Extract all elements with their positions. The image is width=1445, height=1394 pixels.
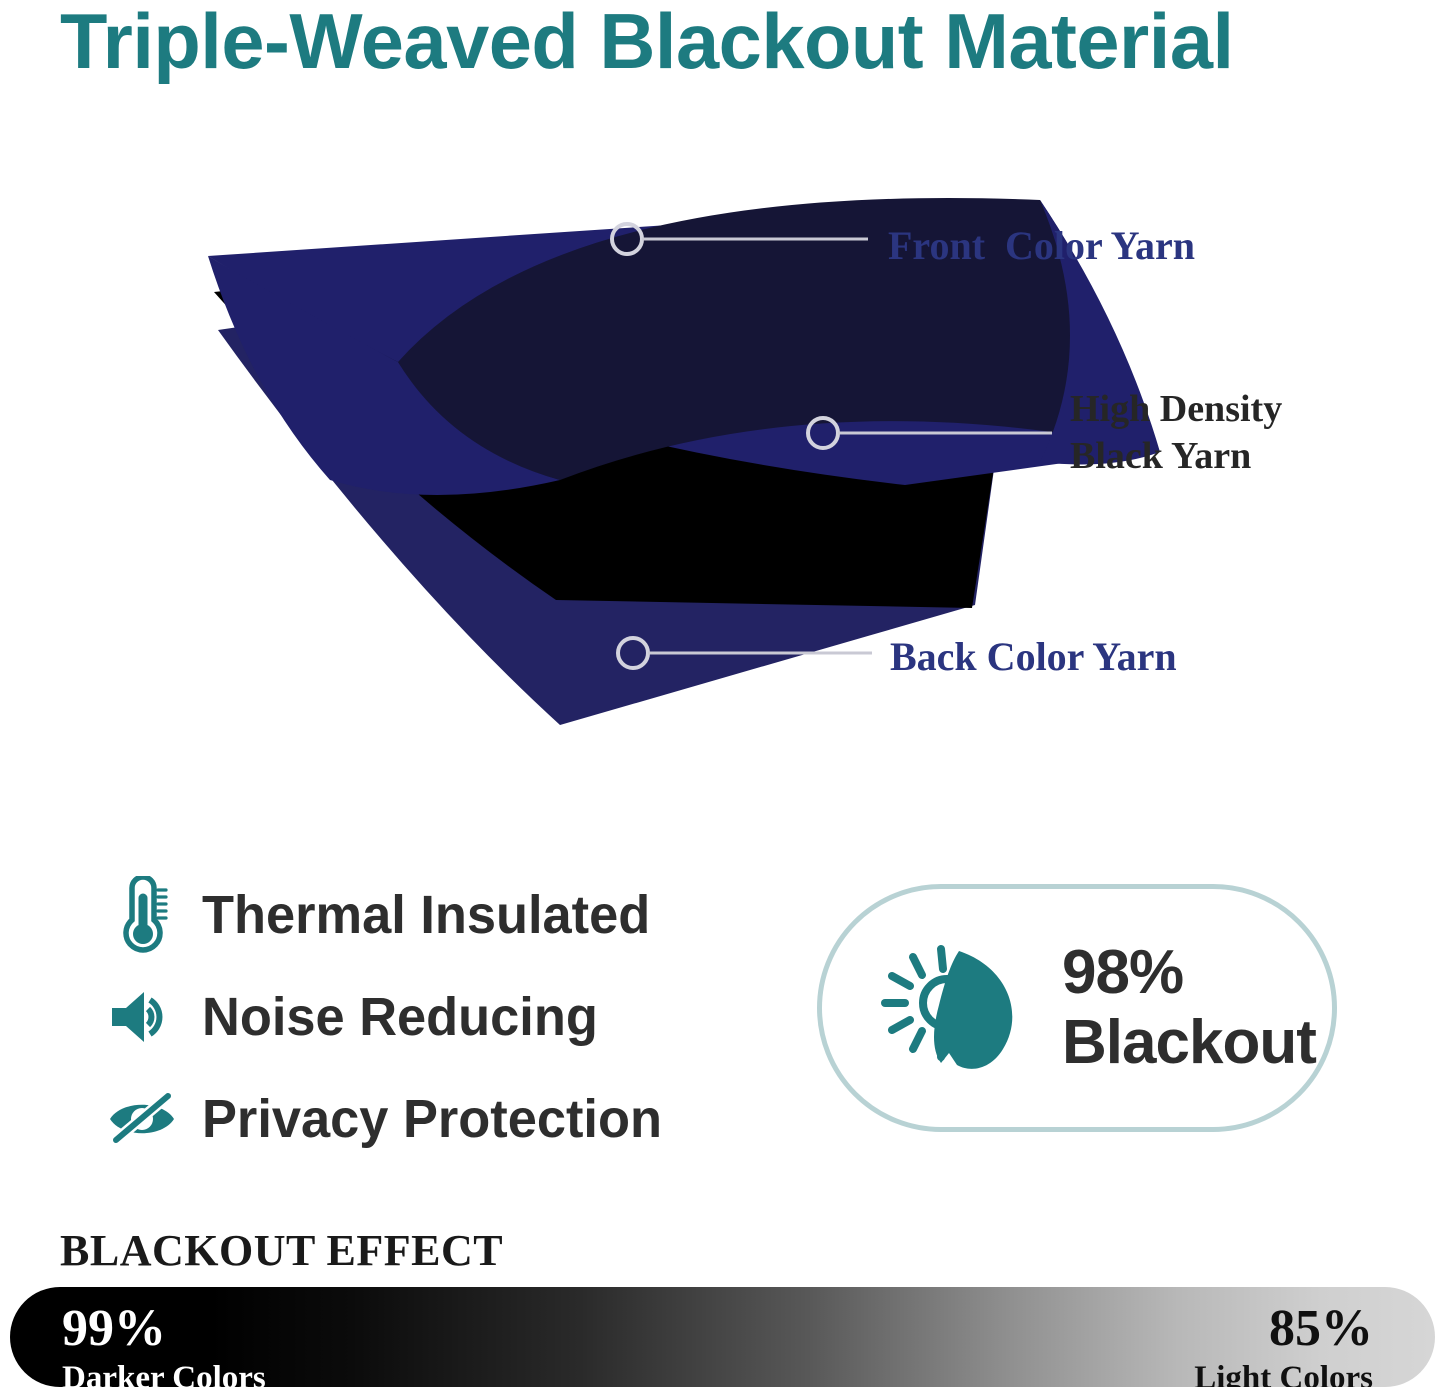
bar-stat-light: 85% Light Colors (1194, 1301, 1373, 1387)
callout-circle-icon (808, 418, 838, 448)
eye-slash-icon (104, 1090, 180, 1148)
callout-black (808, 418, 1052, 448)
callout-circle-icon (618, 638, 648, 668)
bar-percent-darker: 99% (62, 1301, 266, 1357)
feature-label-thermal: Thermal Insulated (202, 885, 650, 945)
blackout-effect-gradient-bar: 99% Darker Colors 85% Light Colors (10, 1287, 1435, 1387)
badge-word: Blackout (1062, 1012, 1316, 1074)
callout-circle-icon (612, 224, 642, 254)
bar-percent-light: 85% (1194, 1301, 1373, 1357)
feature-label-privacy: Privacy Protection (202, 1089, 662, 1149)
page-title: Triple-Weaved Blackout Material (60, 0, 1393, 84)
feature-item-privacy: Privacy Protection (104, 1076, 744, 1162)
bar-sub-light: Light Colors (1194, 1359, 1373, 1387)
callout-front (612, 224, 868, 254)
label-back-color-yarn: Back Color Yarn (890, 633, 1177, 681)
bar-stat-darker: 99% Darker Colors (62, 1301, 266, 1387)
sun-blocked-icon (822, 933, 1062, 1083)
feature-item-noise: Noise Reducing (104, 974, 744, 1060)
feature-label-noise: Noise Reducing (202, 987, 598, 1047)
label-high-density-black-yarn: High Density Black Yarn (1070, 386, 1282, 480)
badge-text-group: 98% Blackout (1062, 942, 1316, 1074)
blackout-effect-title: BLACKOUT EFFECT (60, 1225, 503, 1277)
speaker-volume-icon (104, 986, 180, 1048)
feature-list: Thermal Insulated Noise Reducing (104, 872, 744, 1178)
thermometer-icon (104, 876, 180, 954)
callout-back (618, 638, 872, 668)
blackout-badge: 98% Blackout (817, 884, 1337, 1132)
badge-percent: 98% (1062, 942, 1316, 1004)
label-front-color-yarn: Front Color Yarn (888, 222, 1195, 270)
feature-item-thermal: Thermal Insulated (104, 872, 744, 958)
bar-sub-darker: Darker Colors (62, 1359, 266, 1387)
